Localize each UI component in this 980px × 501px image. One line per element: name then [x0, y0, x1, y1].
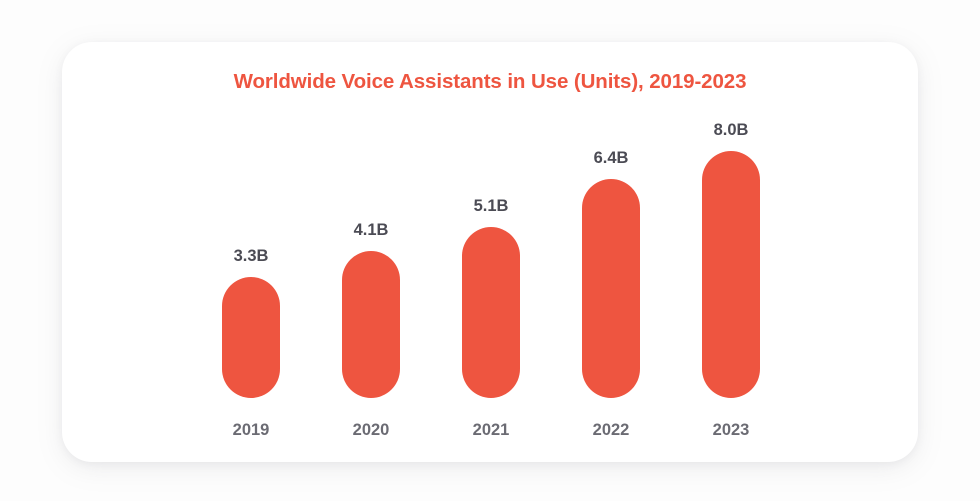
category-label-2021: 2021	[462, 421, 520, 440]
bar-value-label: 8.0B	[714, 121, 749, 140]
bar-value-label: 6.4B	[594, 149, 629, 168]
category-label-2020: 2020	[342, 421, 400, 440]
bar-group-2021[interactable]: 5.1B	[462, 197, 520, 398]
chart-card: Worldwide Voice Assistants in Use (Units…	[62, 42, 918, 462]
bar-value-label: 3.3B	[234, 247, 269, 266]
bar-group-2023[interactable]: 8.0B	[702, 121, 760, 398]
bar-group-2019[interactable]: 3.3B	[222, 247, 280, 398]
bar-2022[interactable]	[582, 179, 640, 398]
bar-value-label: 4.1B	[354, 221, 389, 240]
bar-group-2022[interactable]: 6.4B	[582, 149, 640, 398]
bar-2019[interactable]	[222, 277, 280, 398]
category-label-2022: 2022	[582, 421, 640, 440]
bar-2021[interactable]	[462, 227, 520, 398]
bar-2020[interactable]	[342, 251, 400, 398]
bar-value-label: 5.1B	[474, 197, 509, 216]
category-label-2023: 2023	[702, 421, 760, 440]
category-label-2019: 2019	[222, 421, 280, 440]
bar-chart-plot-area: 3.3B 2019 4.1B 2020 5.1B 2021 6.4B 2022	[62, 42, 918, 462]
chart-screenshot: Worldwide Voice Assistants in Use (Units…	[0, 0, 980, 501]
bar-group-2020[interactable]: 4.1B	[342, 221, 400, 398]
bar-2023[interactable]	[702, 151, 760, 398]
